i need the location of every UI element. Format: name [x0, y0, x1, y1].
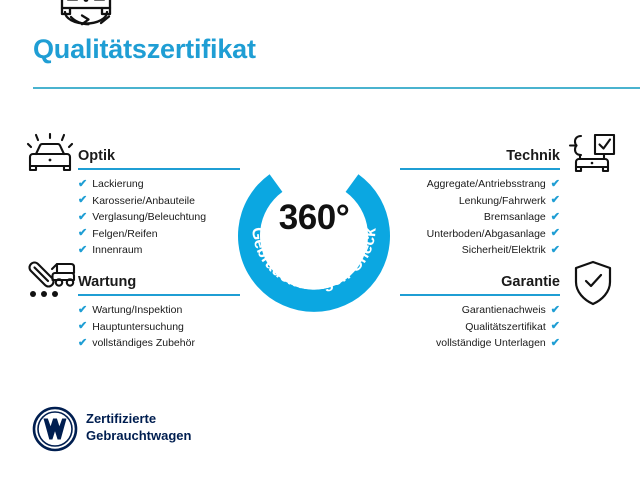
section-wartung: Wartung ✔ Wartung/Inspektion ✔ Hauptunte…: [78, 266, 240, 352]
list-item-label: Wartung/Inspektion: [92, 302, 182, 319]
badge-degrees-label: 360°: [228, 198, 400, 238]
checklist: Aggregate/Antriebsstrang ✔ Lenkung/Fahrw…: [400, 176, 560, 259]
section-title: Technik: [506, 148, 560, 164]
list-item-label: Bremsanlage: [484, 209, 546, 226]
list-item: Garantienachweis ✔: [400, 302, 560, 319]
list-item-label: Verglasung/Beleuchtung: [92, 209, 206, 226]
section-divider: [78, 168, 240, 170]
check-icon: ✔: [78, 179, 87, 190]
list-item-label: vollständige Unterlagen: [436, 335, 546, 352]
list-item: ✔ Verglasung/Beleuchtung: [78, 209, 240, 226]
list-item-label: Aggregate/Antriebsstrang: [427, 176, 546, 193]
vw-wordmark: Zertifizierte Gebrauchtwagen: [86, 410, 191, 444]
list-item-label: Unterboden/Abgasanlage: [427, 226, 546, 243]
section-title: Wartung: [78, 274, 136, 290]
list-item: vollständige Unterlagen ✔: [400, 335, 560, 352]
list-item: Qualitätszertifikat ✔: [400, 319, 560, 336]
section-header: Garantie: [400, 266, 560, 296]
check-icon: ✔: [78, 212, 87, 223]
car-rotation-icon: [49, 0, 123, 32]
section-header: Technik: [400, 140, 560, 170]
section-optik: Optik ✔ Lackierung ✔ Karosserie/Anbautei…: [78, 140, 240, 259]
list-item: Bremsanlage ✔: [400, 209, 560, 226]
check-icon: ✔: [78, 321, 87, 332]
list-item: ✔ Felgen/Reifen: [78, 226, 240, 243]
list-item-label: Qualitätszertifikat: [465, 319, 546, 336]
list-item-label: Lenkung/Fahrwerk: [459, 193, 546, 210]
list-item-label: Felgen/Reifen: [92, 226, 157, 243]
list-item-label: Garantienachweis: [462, 302, 546, 319]
checklist: ✔ Wartung/Inspektion ✔ Hauptuntersuchung…: [78, 302, 240, 352]
check-icon: ✔: [551, 305, 560, 316]
list-item: ✔ Lackierung: [78, 176, 240, 193]
check-icon: ✔: [78, 305, 87, 316]
check-icon: ✔: [78, 245, 87, 256]
list-item-label: Karosserie/Anbauteile: [92, 193, 195, 210]
section-garantie: Garantie Garantienachweis ✔ Qualitätszer…: [400, 266, 560, 352]
list-item-label: Innenraum: [92, 242, 142, 259]
section-divider: [400, 294, 560, 296]
page-title: Qualitätszertifikat: [33, 34, 256, 65]
section-divider: [400, 168, 560, 170]
section-header: Optik: [78, 140, 240, 170]
list-item: Sicherheit/Elektrik ✔: [400, 242, 560, 259]
section-technik: Technik Aggregate/Antriebsstrang ✔ Lenku…: [400, 140, 560, 259]
list-item: ✔ Hauptuntersuchung: [78, 319, 240, 336]
shield-check-icon: [572, 260, 614, 311]
section-divider: [78, 294, 240, 296]
list-item: Unterboden/Abgasanlage ✔: [400, 226, 560, 243]
car-lift-check-icon: [568, 134, 616, 179]
vw-roundel-logo: [32, 406, 78, 452]
checklist: ✔ Lackierung ✔ Karosserie/Anbauteile ✔ V…: [78, 176, 240, 259]
check-icon: ✔: [78, 338, 87, 349]
list-item-label: Sicherheit/Elektrik: [462, 242, 546, 259]
check-icon: ✔: [551, 321, 560, 332]
list-item-label: Lackierung: [92, 176, 143, 193]
section-header: Wartung: [78, 266, 240, 296]
section-title: Garantie: [501, 274, 560, 290]
list-item: ✔ vollständiges Zubehör: [78, 335, 240, 352]
360-check-badge: Gebrauchtwagen-Check 360°: [228, 142, 400, 314]
checklist: Garantienachweis ✔ Qualitätszertifikat ✔…: [400, 302, 560, 352]
list-item-label: vollständiges Zubehör: [92, 335, 195, 352]
list-item: ✔ Karosserie/Anbauteile: [78, 193, 240, 210]
check-icon: ✔: [551, 212, 560, 223]
shiny-car-icon: [26, 133, 74, 180]
check-icon: ✔: [78, 228, 87, 239]
check-icon: ✔: [551, 195, 560, 206]
vw-text-line1: Zertifizierte: [86, 410, 191, 427]
list-item: Lenkung/Fahrwerk ✔: [400, 193, 560, 210]
check-icon: ✔: [551, 338, 560, 349]
title-divider: [33, 87, 640, 89]
certificate-page: Qualitätszertifikat Optik ✔ Lackierung ✔…: [0, 0, 640, 480]
list-item: ✔ Wartung/Inspektion: [78, 302, 240, 319]
list-item: ✔ Innenraum: [78, 242, 240, 259]
section-title: Optik: [78, 148, 115, 164]
list-item: Aggregate/Antriebsstrang ✔: [400, 176, 560, 193]
check-icon: ✔: [551, 228, 560, 239]
wrench-car-icon: [26, 260, 76, 305]
check-icon: ✔: [551, 179, 560, 190]
check-icon: ✔: [78, 195, 87, 206]
vw-text-line2: Gebrauchtwagen: [86, 427, 191, 444]
check-icon: ✔: [551, 245, 560, 256]
list-item-label: Hauptuntersuchung: [92, 319, 184, 336]
